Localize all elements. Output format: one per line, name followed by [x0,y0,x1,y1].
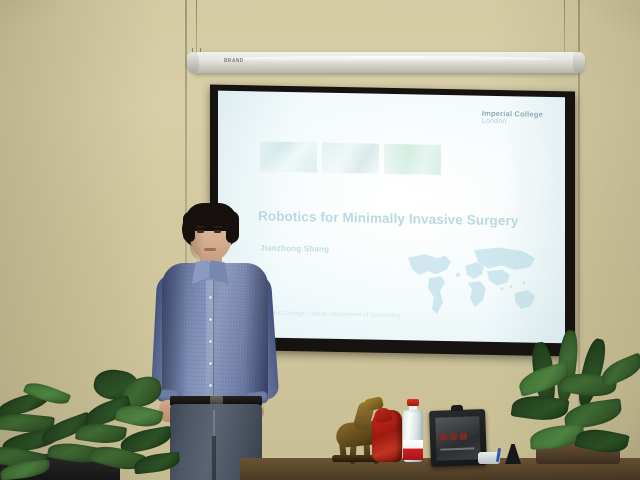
frame-inner-panel [435,416,480,461]
potted-plant-center-left [78,368,208,480]
frame-chip-3 [460,433,467,440]
frame-stand [451,405,463,411]
photograph-scene: BRAND Imperial College London [0,0,640,480]
imperial-college-logo: Imperial College London [482,110,543,127]
hanging-wire-left [196,0,197,54]
logo-secondary-text: London [482,118,543,127]
bottle-label [403,440,423,460]
shirt-button-5 [209,384,212,387]
bottle-cap [407,399,419,406]
projector-screen-roller-case[interactable]: BRAND [188,52,584,73]
roller-endcap-right [573,52,585,73]
leaf [75,421,127,447]
slide-thumbnail-2 [322,143,379,174]
roller-highlight [220,56,553,62]
frame-chip-1 [440,433,447,440]
shirt-shadow-right [244,263,268,403]
frame-text-line [440,447,474,450]
world-map-graphic [399,238,549,327]
eyebrow-right [214,226,222,228]
frame-color-chips [440,433,467,441]
eye-left [197,230,204,233]
slide-thumbnail-3 [384,144,441,175]
eyebrow-left [196,226,204,228]
shirt-button-4 [209,362,212,365]
shirt-button-2 [209,318,212,321]
hanging-wire-right [564,0,565,58]
slide-thumbnail-1 [260,141,317,172]
water-bottle [403,400,423,462]
hair-side-right [226,211,239,243]
roller-endcap-left [187,52,199,73]
shirt-button-1 [209,296,212,299]
eye-right [214,230,221,233]
frame-chip-2 [450,433,457,440]
shirt-button-3 [209,340,212,343]
hair-side-left [183,212,195,242]
potted-plant-right [516,330,640,480]
roller-brand-label: BRAND [224,58,244,64]
mouth [204,248,216,251]
slide-thumbnail-strip [260,141,441,174]
trouser-leg-gap [212,436,216,480]
